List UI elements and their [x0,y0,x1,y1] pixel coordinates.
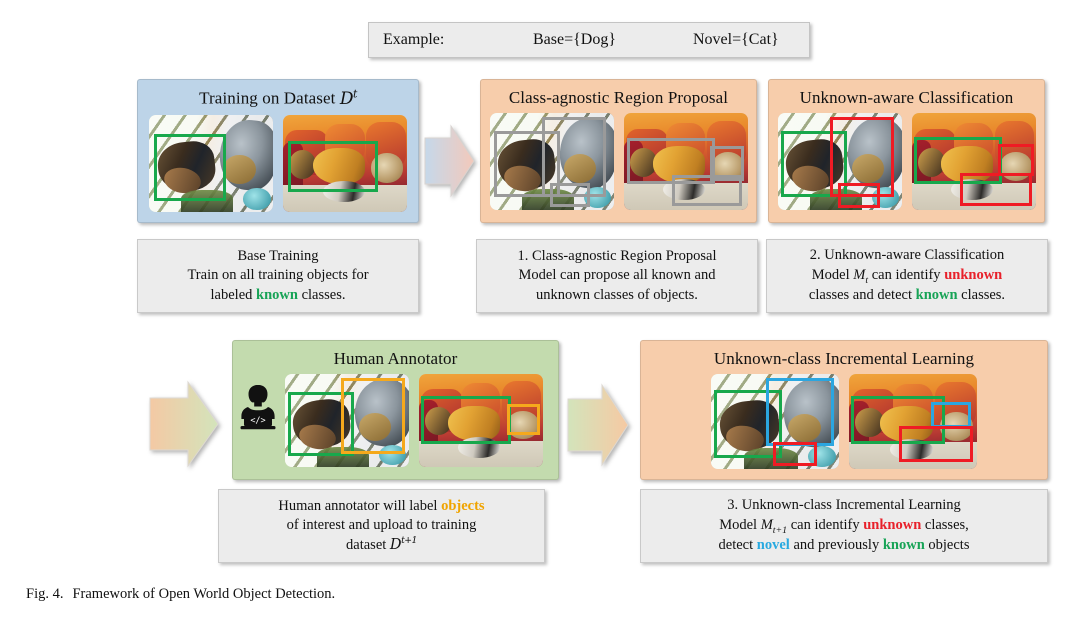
caption-step1-line2: Model can propose all known and [519,266,716,285]
caption-step3-line2: Model Mt+1 can identify unknown classes, [719,516,969,537]
known-keyword: known [883,537,925,553]
caption-step3-line3: detect novel and previously known object… [719,536,970,555]
panel-unknown-class-incremental-learning: Unknown-class Incremental Learning [640,340,1048,480]
unknown-keyword: unknown [944,267,1002,283]
model-symbol-t1: Mt+1 [761,517,787,533]
panel-unknown-aware-classification: Unknown-aware Classification [768,79,1045,223]
photo-couch-dogs [283,115,407,212]
bbox-unknown-d [960,173,1032,206]
caption-step3: 3. Unknown-class Incremental Learning Mo… [640,489,1048,563]
photo-dog-fence-classified [778,113,902,210]
unknown-keyword: unknown [863,517,921,533]
caption-step2-line2: Model Mt can identify unknown [812,266,1002,287]
bbox-novel-b [931,402,971,428]
panel-unknown-aware-title: Unknown-aware Classification [800,89,1014,106]
bbox-object-b [507,404,540,435]
caption-human-label: Human annotator will label objects of in… [218,489,545,563]
panel-training-images [149,115,407,212]
photo-couch-proposals [624,113,748,210]
caption-human-line1: Human annotator will label objects [278,497,484,516]
photo-couch-incremental [849,374,977,469]
panel-proposal-images [490,113,748,210]
caption-human-line3: dataset Dt+1 [346,535,417,555]
novel-keyword: novel [757,537,790,553]
caption-step2-line1: 2. Unknown-aware Classification [810,246,1005,265]
figure-caption-text: Framework of Open World Object Detection… [72,586,335,602]
photo-couch-classified [912,113,1036,210]
caption-step2-line3: classes and detect known classes. [809,286,1005,305]
arrow-to-human-annotator-icon [148,378,222,470]
arrow-training-to-proposal-icon [421,122,477,200]
bbox-unknown-f [899,426,973,462]
figure-caption: Fig. 4.Framework of Open World Object De… [26,586,335,603]
person-with-laptop-icon: </> [238,383,278,436]
caption-base-training-line2: Train on all training objects for [187,266,368,285]
caption-base-training-line3: labeled known classes. [211,286,346,305]
bbox-known-dog-2 [288,141,378,192]
photo-dog-fence-incremental [711,374,839,469]
example-novel: Novel={Cat} [693,31,779,49]
known-keyword: known [256,287,298,303]
bbox-unknown-b [838,183,880,208]
photo-dog-fence [149,115,273,212]
photo-dog-fence-annotated [285,374,409,467]
panel-human-annotator-title: Human Annotator [334,350,458,367]
panel-unknown-aware-images [778,113,1036,210]
example-label: Example: [383,31,533,49]
panel-human-annotator-images [285,374,543,467]
caption-step1-line1: 1. Class-agnostic Region Proposal [518,247,717,266]
panel-incremental-images [711,374,977,469]
dataset-symbol-t1: Dt+1 [390,537,417,553]
bbox-proposal-3 [550,183,590,207]
example-bar: Example: Base={Dog} Novel={Cat} [368,22,810,58]
panel-incremental-title: Unknown-class Incremental Learning [714,350,974,367]
training-title-math: Dt [340,89,357,109]
arrow-human-to-incremental-icon [566,381,632,469]
known-keyword: known [916,287,958,303]
bbox-unknown-c [998,144,1034,176]
panel-class-agnostic-region-proposal: Class-agnostic Region Proposal [480,79,757,223]
objects-keyword: objects [441,498,485,514]
bbox-known-d [421,396,511,444]
caption-step1: 1. Class-agnostic Region Proposal Model … [476,239,758,313]
caption-step2: 2. Unknown-aware Classification Model Mt… [766,239,1048,313]
caption-base-training: Base Training Train on all training obje… [137,239,419,313]
bbox-object-a [341,378,405,454]
bbox-novel-a [766,378,834,446]
training-title-text: Training on Dataset [199,89,340,108]
panel-training-on-dataset: Training on Dataset Dt [137,79,419,223]
photo-dog-fence-proposals [490,113,614,210]
bbox-known-dog [154,134,226,201]
caption-step3-line1: 3. Unknown-class Incremental Learning [727,496,961,515]
model-symbol-t: Mt [853,267,868,283]
caption-step1-line3: unknown classes of objects. [536,286,698,305]
figure-caption-label: Fig. 4. [26,586,63,602]
code-glyph: </> [250,416,265,426]
example-base: Base={Dog} [533,31,693,49]
caption-base-training-line1: Base Training [238,247,319,266]
bbox-proposal-6 [672,175,742,206]
bbox-unknown-e [773,442,817,466]
caption-human-line2: of interest and upload to training [287,516,477,535]
panel-human-annotator: Human Annotator [232,340,559,480]
photo-couch-annotated [419,374,543,467]
panel-training-title: Training on Dataset Dt [199,89,357,108]
panel-proposal-title: Class-agnostic Region Proposal [509,89,728,106]
